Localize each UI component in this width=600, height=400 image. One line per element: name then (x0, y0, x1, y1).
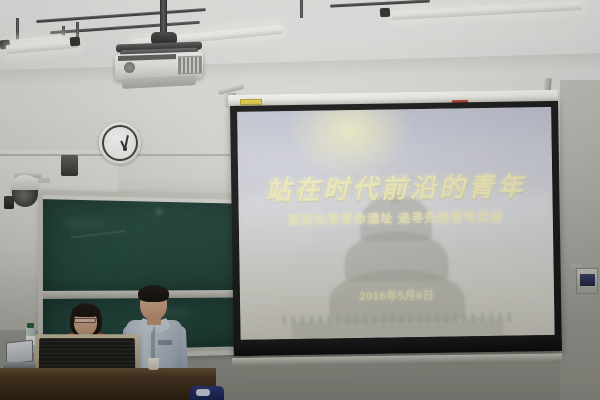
light-suspension-rod-right (300, 0, 303, 18)
laptop-icon[interactable] (6, 340, 33, 365)
chalk-streak (70, 231, 125, 238)
speaker-shirt-pocket (158, 340, 172, 345)
slide-date: 2016年5月6日 (240, 285, 554, 306)
projection-screen-surface: 站在时代前沿的青年 走近北京革命遗址 追寻先进青年足迹 2016年5月6日 (237, 107, 555, 340)
presentation-slide: 站在时代前沿的青年 走近北京革命遗址 追寻先进青年足迹 2016年5月6日 (237, 107, 555, 340)
podium-slat-panel (39, 338, 136, 371)
clock-rim (102, 125, 138, 161)
slide-title: 站在时代前沿的青年 (238, 166, 553, 208)
bottle-cap (27, 323, 34, 328)
chalk-smudge-2 (157, 209, 162, 214)
projector-mount-pole (160, 0, 167, 36)
camera-side-module (4, 196, 14, 209)
control-panel-display[interactable] (580, 274, 595, 286)
eyeglasses-icon (74, 318, 96, 323)
right-wall (560, 80, 600, 400)
light-suspension-rod-left (16, 18, 19, 40)
screen-warning-label (240, 99, 262, 105)
desk-front-panel (0, 376, 216, 400)
control-panel-tab (570, 264, 582, 267)
wall-clock (99, 122, 141, 164)
camera-wall-post (38, 178, 50, 183)
speaker-hair (138, 285, 169, 302)
projector-vent (178, 56, 202, 75)
projection-screen[interactable]: 站在时代前沿的青年 走近北京革命遗址 追寻先进青年足迹 2016年5月6日 (230, 101, 562, 356)
classroom-scene: 站在时代前沿的青年 走近北京革命遗址 追寻先进青年足迹 2016年5月6日 (0, 0, 600, 400)
laptop-keyboard-base[interactable] (3, 362, 36, 368)
cup (148, 358, 159, 370)
chalk-smudge (63, 217, 107, 230)
blue-folder-label (196, 389, 210, 396)
light-end-cap-center (70, 37, 81, 47)
presenter-fringe (72, 305, 100, 317)
wall-speaker-box (61, 155, 78, 176)
blackboard-upper-panel (43, 199, 248, 293)
light-end-cap-far-right (380, 8, 390, 18)
clock-center-dot (123, 147, 127, 151)
